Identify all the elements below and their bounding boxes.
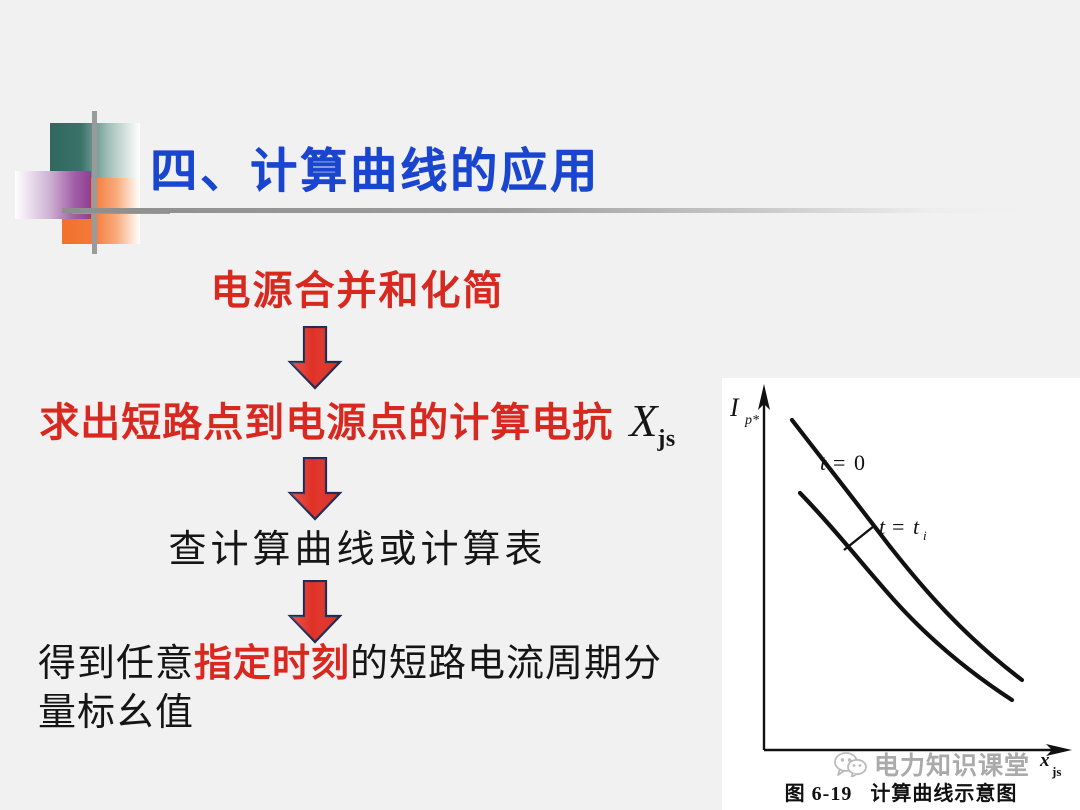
svg-text:0: 0 <box>854 450 865 475</box>
wechat-logo-icon <box>834 751 868 777</box>
svg-text:I: I <box>729 393 740 422</box>
slide-canvas: 四、计算曲线的应用 电源合并和化简 求出短路点到电源点的计算电抗Xjs <box>0 0 1080 810</box>
flow-step-3: 查计算曲线或计算表 <box>0 518 715 573</box>
svg-text:i: i <box>923 528 927 543</box>
reactance-symbol-subscript: js <box>657 426 675 452</box>
reactance-symbol: Xjs <box>613 395 675 446</box>
figure-caption-number: 图 6-19 <box>785 783 853 805</box>
svg-text:=: = <box>892 514 904 539</box>
title-underline-rule <box>62 208 1030 213</box>
flow-step-3-label: 查计算曲线或计算表 <box>168 529 546 571</box>
flow-step-4-highlight: 指定时刻 <box>194 643 350 685</box>
decorative-logo <box>10 105 170 255</box>
flow-step-1-label: 电源合并和化简 <box>211 268 505 313</box>
svg-text:x: x <box>1039 750 1050 771</box>
reactance-symbol-base: X <box>629 395 657 446</box>
page-title: 四、计算曲线的应用 <box>150 132 600 201</box>
figure-caption-title: 计算曲线示意图 <box>870 783 1017 805</box>
flow-step-4: 得到任意指定时刻的短路电流周期分量标幺值 <box>38 640 678 737</box>
svg-text:=: = <box>833 450 845 475</box>
flow-step-2-label: 求出短路点到电源点的计算电抗 <box>39 400 613 445</box>
logo-vertical-rule <box>92 111 97 254</box>
svg-text:p*: p* <box>744 413 759 428</box>
arrow-step2-to-step3 <box>285 457 345 521</box>
flow-step-2: 求出短路点到电源点的计算电抗Xjs <box>0 390 715 453</box>
figure-panel: I p* x js t = 0 t = t i <box>722 378 1080 810</box>
figure-caption: 图 6-19计算曲线示意图 <box>722 777 1080 806</box>
svg-text:t: t <box>879 514 886 539</box>
flow-step-4-prefix: 得到任意 <box>38 643 194 685</box>
svg-text:t: t <box>913 514 920 539</box>
flow-step-1: 电源合并和化简 <box>0 258 715 316</box>
arrow-step3-to-step4 <box>285 580 345 644</box>
arrow-step1-to-step2 <box>285 326 345 390</box>
svg-text:t: t <box>820 450 827 475</box>
